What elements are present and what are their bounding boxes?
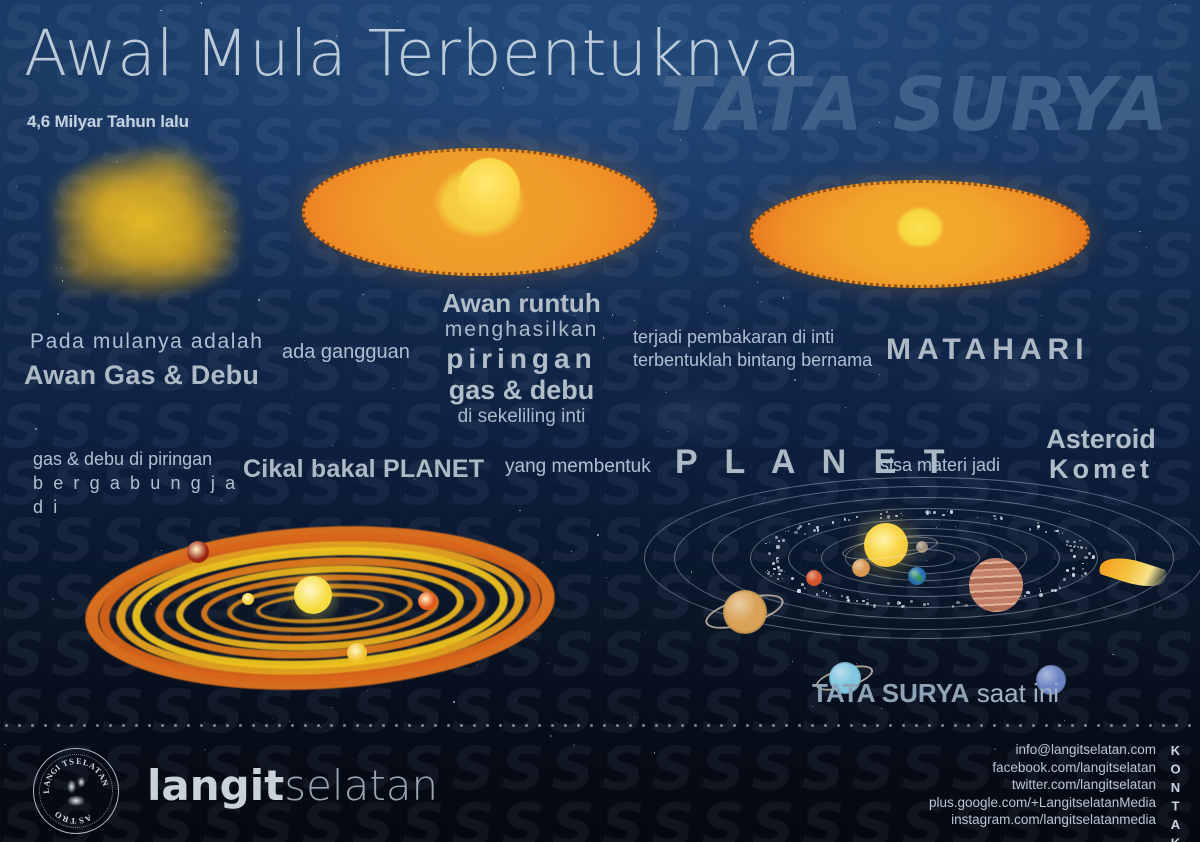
nebula-glow	[620, 380, 770, 450]
asteroid	[797, 527, 800, 530]
watermark-s: S	[648, 228, 698, 285]
star	[803, 2, 804, 3]
star	[634, 320, 635, 321]
asteroid	[1039, 588, 1040, 589]
watermark-s: S	[198, 684, 248, 741]
seal-char: S	[68, 757, 75, 767]
watermark-s: S	[548, 741, 598, 798]
asteroid	[880, 513, 882, 515]
watermark-s: S	[798, 741, 848, 798]
watermark-s: S	[598, 627, 648, 684]
watermark-s: S	[248, 399, 298, 456]
watermark-s: S	[1098, 285, 1148, 342]
asteroid	[784, 571, 785, 572]
watermark-s: S	[598, 684, 648, 741]
watermark-s: S	[298, 285, 348, 342]
asteroid	[1073, 546, 1075, 548]
asteroid	[816, 526, 818, 528]
star	[612, 314, 614, 316]
asteroid	[813, 529, 816, 532]
ignition-line-1: terjadi pembakaran di inti	[633, 326, 883, 349]
star	[757, 282, 758, 283]
asteroid	[1082, 563, 1084, 565]
asteroid	[1040, 590, 1041, 591]
watermark-s: S	[548, 627, 598, 684]
protostar-core	[458, 158, 520, 220]
star	[645, 631, 647, 633]
watermark-s: S	[898, 0, 948, 57]
star	[291, 397, 292, 398]
asteroid	[873, 604, 876, 607]
star	[1139, 231, 1141, 233]
watermark-s: S	[448, 798, 498, 842]
watermark-s: S	[1098, 0, 1148, 57]
star	[732, 292, 733, 293]
asteroid	[832, 521, 835, 524]
merge-line-1: gas & debu di piringan	[33, 447, 243, 471]
asteroid	[1026, 591, 1029, 594]
star	[16, 186, 17, 187]
current-system-bold: TATA SURYA	[812, 678, 969, 708]
watermark-s: S	[498, 684, 548, 741]
asteroid	[766, 543, 767, 544]
watermark-s: S	[598, 570, 648, 627]
asteroid	[1066, 540, 1069, 543]
asteroid	[1054, 530, 1056, 532]
seal-char: R	[61, 813, 70, 823]
star	[331, 268, 332, 269]
watermark-s: S	[0, 570, 48, 627]
asteroid	[950, 510, 954, 514]
watermark-s: S	[48, 684, 98, 741]
brand-bold: langit	[147, 761, 284, 810]
asteroid	[933, 511, 936, 514]
star	[273, 718, 274, 719]
asteroid	[901, 605, 904, 608]
kontak-label: KONTAK	[1168, 743, 1183, 842]
watermark-s: S	[1148, 342, 1198, 399]
asteroid	[1062, 532, 1063, 533]
asteroid	[1000, 517, 1003, 520]
asteroid	[848, 519, 850, 521]
asteroid	[817, 529, 820, 532]
contact-list: info@langitselatan.comfacebook.com/langi…	[929, 741, 1156, 829]
watermark-s: S	[398, 684, 448, 741]
asteroid	[867, 599, 868, 600]
asteroid	[773, 568, 776, 571]
asteroid	[1063, 578, 1065, 580]
star	[879, 374, 880, 375]
star	[98, 109, 99, 110]
watermark-s: S	[548, 684, 598, 741]
star	[35, 428, 36, 429]
star	[760, 301, 762, 303]
star	[317, 180, 319, 182]
asteroid	[776, 545, 779, 548]
current-system-light: saat ini	[977, 678, 1059, 708]
star	[707, 312, 708, 313]
watermark-s: S	[1148, 0, 1198, 57]
label-cloud-intro: Pada mulanya adalah	[30, 330, 264, 354]
star	[656, 251, 657, 252]
asteroid	[926, 510, 929, 513]
brand-wordmark: langitselatan	[147, 762, 438, 810]
asteroid	[819, 595, 820, 596]
asteroid	[1014, 517, 1016, 519]
star	[597, 534, 599, 536]
watermark-s: S	[548, 570, 598, 627]
asteroid	[778, 569, 782, 573]
watermark-s: S	[498, 741, 548, 798]
label-collapse-block: Awan runtuh menghasilkan piringan gas & …	[434, 289, 609, 429]
asteroid	[880, 517, 881, 518]
asteroid	[773, 573, 775, 575]
watermark-s: S	[798, 798, 848, 842]
watermark-s: S	[948, 399, 998, 456]
watermark-s: S	[498, 798, 548, 842]
star	[794, 379, 796, 381]
watermark-s: S	[698, 171, 748, 228]
contact-item-5[interactable]: instagram.com/langitselatanmedia	[929, 811, 1156, 829]
asteroid	[777, 578, 779, 580]
star	[515, 700, 516, 701]
asteroid	[856, 600, 858, 602]
star	[665, 392, 667, 394]
collapse-line-2: menghasilkan	[434, 317, 609, 343]
watermark-s: S	[598, 114, 648, 171]
asteroid	[1059, 533, 1060, 534]
star	[571, 551, 572, 552]
asteroid	[1066, 569, 1069, 572]
asteroid	[1024, 595, 1026, 597]
star	[724, 305, 726, 307]
star	[331, 707, 332, 708]
star	[634, 717, 635, 718]
asteroid	[775, 536, 778, 539]
watermark-s: S	[98, 684, 148, 741]
watermark-s: S	[248, 684, 298, 741]
star	[201, 2, 203, 4]
watermark-s: S	[548, 798, 598, 842]
asteroid	[1056, 530, 1058, 532]
watermark-s: S	[1098, 342, 1148, 399]
asteroid	[804, 533, 806, 535]
label-protoplanet: Cikal bakal PLANET	[243, 455, 484, 484]
asteroid	[829, 595, 831, 597]
star	[555, 119, 556, 120]
planet-venus	[852, 559, 870, 577]
asteroid	[776, 560, 779, 563]
star	[289, 413, 290, 414]
asteroid	[923, 603, 926, 606]
asteroid	[782, 539, 785, 542]
protoplanet-inner	[242, 593, 254, 605]
watermark-s: S	[698, 228, 748, 285]
asteroid	[785, 531, 786, 532]
watermark-s: S	[298, 399, 348, 456]
contact-item-2[interactable]: facebook.com/langitselatan	[929, 759, 1156, 777]
asteroid	[1069, 545, 1072, 548]
asteroid	[1059, 587, 1061, 589]
asteroid	[1073, 555, 1076, 558]
asteroid	[1039, 593, 1043, 597]
asteroid	[791, 577, 794, 580]
asteroid	[1037, 528, 1039, 530]
asteroid	[1092, 555, 1095, 558]
asteroid	[1084, 556, 1087, 559]
planet-jupiter	[969, 558, 1023, 612]
asteroid	[1073, 541, 1076, 544]
asteroid	[801, 583, 804, 586]
asteroid	[1081, 575, 1084, 578]
star	[332, 445, 333, 446]
asteroid	[788, 530, 790, 532]
contact-item-4[interactable]: plus.google.com/+LangitselatanMedia	[929, 794, 1156, 812]
brand-light: selatan	[284, 761, 438, 810]
star	[747, 193, 748, 194]
star	[352, 94, 353, 95]
watermark-s: S	[298, 114, 348, 171]
star	[367, 690, 368, 691]
asteroid	[1072, 573, 1075, 576]
asteroid	[1079, 540, 1081, 542]
watermark-s: S	[598, 513, 648, 570]
star	[963, 313, 964, 314]
asteroid	[844, 518, 846, 520]
watermark-s: S	[1148, 171, 1198, 228]
watermark-s: S	[348, 285, 398, 342]
big-title-tata-surya: TATA SURYA	[660, 68, 1170, 142]
asteroid	[1037, 522, 1039, 524]
star	[845, 407, 846, 408]
watermark-s: S	[1148, 228, 1198, 285]
asteroid	[902, 515, 903, 516]
watermark-s: S	[1098, 228, 1148, 285]
watermark-s: S	[448, 684, 498, 741]
asteroid	[1059, 586, 1060, 587]
protostar	[294, 576, 332, 614]
asteroid	[782, 578, 783, 579]
star	[393, 388, 394, 389]
watermark-s: S	[698, 741, 748, 798]
protoplanet-yellow	[347, 643, 367, 663]
star	[1064, 720, 1065, 721]
asteroid	[895, 515, 898, 518]
star	[573, 744, 575, 746]
asteroid	[805, 588, 806, 589]
watermark-s: S	[948, 0, 998, 57]
watermark-s: S	[648, 741, 698, 798]
watermark-s: S	[698, 798, 748, 842]
asteroid	[778, 573, 780, 575]
watermark-s: S	[798, 0, 848, 57]
star	[606, 577, 607, 578]
asteroid	[910, 600, 913, 603]
seal-centaur-icon	[54, 769, 98, 813]
watermark-s: S	[448, 741, 498, 798]
star	[1066, 262, 1067, 263]
star	[654, 752, 655, 753]
asteroid	[778, 540, 780, 542]
star	[519, 510, 521, 512]
star	[1140, 1, 1141, 2]
star	[52, 598, 54, 600]
asteroid	[826, 592, 827, 593]
star	[550, 735, 552, 737]
label-disturbance: ada gangguan	[282, 341, 410, 364]
footer-divider	[0, 724, 1200, 727]
asteroid	[1070, 549, 1072, 551]
star	[160, 10, 162, 12]
asteroid	[956, 601, 959, 604]
asteroid	[947, 511, 948, 512]
star	[204, 749, 205, 750]
gas-dust-cloud-texture	[18, 125, 273, 335]
protoplanet-red	[187, 541, 209, 563]
watermark-s: S	[0, 684, 48, 741]
asteroid	[770, 575, 772, 577]
watermark-s: S	[598, 798, 648, 842]
asteroid	[862, 600, 865, 603]
planet-saturn	[723, 590, 767, 634]
ignition-line-2: terbentuklah bintang bernama	[633, 349, 883, 372]
asteroid	[1029, 528, 1031, 530]
star	[289, 721, 290, 722]
seal-char: L	[42, 787, 51, 794]
asteroid	[929, 511, 932, 514]
star	[1110, 307, 1112, 309]
star	[668, 431, 669, 432]
collapse-line-1: Awan runtuh	[434, 289, 609, 317]
star	[0, 370, 1, 371]
asteroid	[942, 514, 944, 516]
asteroid	[808, 523, 810, 525]
debris-line-1: Asteroid	[1026, 425, 1176, 454]
asteroid	[1077, 546, 1079, 548]
collapse-line-4: gas & debu	[434, 375, 609, 405]
contact-item-1[interactable]: info@langitselatan.com	[929, 741, 1156, 759]
debris-line-2: Komet	[1026, 454, 1176, 485]
asteroid	[769, 542, 770, 543]
asteroid	[1066, 544, 1068, 546]
watermark-s: S	[1148, 285, 1198, 342]
asteroid	[1054, 589, 1057, 592]
contact-item-3[interactable]: twitter.com/langitselatan	[929, 776, 1156, 794]
star	[240, 401, 241, 402]
asteroid	[1045, 531, 1047, 533]
asteroid	[977, 517, 978, 518]
asteroid	[886, 511, 888, 513]
watermark-s: S	[548, 513, 598, 570]
watermark-s: S	[348, 399, 398, 456]
label-merge: gas & debu di piringan b e r g a b u n g…	[33, 447, 243, 519]
asteroid	[1084, 572, 1087, 575]
label-current-system: TATA SURYA saat ini	[812, 678, 1059, 709]
star	[453, 701, 455, 703]
label-cloud-name: Awan Gas & Debu	[24, 360, 259, 391]
collapse-line-3: piringan	[434, 343, 609, 375]
asteroid	[841, 595, 843, 597]
seal-char: T	[70, 816, 76, 825]
watermark-s: S	[998, 0, 1048, 57]
watermark-s: S	[148, 684, 198, 741]
planet-earth	[908, 567, 926, 585]
planet-mars	[806, 570, 822, 586]
asteroid	[772, 562, 775, 565]
star	[282, 187, 283, 188]
asteroid	[765, 572, 766, 573]
watermark-s: S	[848, 741, 898, 798]
asteroid	[994, 518, 996, 520]
watermark-s: S	[0, 627, 48, 684]
star	[362, 294, 364, 296]
asteroid	[822, 525, 823, 526]
protoplanetary-ring-system	[85, 525, 555, 690]
asteroid	[856, 516, 858, 518]
watermark-s: S	[298, 684, 348, 741]
watermark-s: S	[648, 798, 698, 842]
asteroid	[1021, 596, 1022, 597]
label-star-name: MATAHARI	[886, 333, 1090, 367]
logo-seal: LANGITSELATANASTRO	[33, 748, 119, 834]
watermark-s: S	[1098, 171, 1148, 228]
star	[845, 11, 846, 12]
watermark-s: S	[0, 513, 48, 570]
asteroid	[768, 552, 772, 556]
asteroid	[765, 543, 766, 544]
asteroid	[847, 599, 850, 602]
label-leftover: sisa materi jadi	[880, 455, 1000, 476]
infographic-poster: SSSSSSSSSSSSSSSSSSSSSSSSSSSSSSSSSSSSSSSS…	[0, 0, 1200, 842]
star	[674, 225, 676, 227]
star	[4, 744, 5, 745]
watermark-s: S	[598, 741, 648, 798]
star	[1041, 315, 1042, 316]
seal-char: N	[99, 778, 110, 787]
star-forming-disk-illustration	[750, 180, 1090, 288]
asteroid	[816, 593, 819, 596]
asteroid-belt	[765, 512, 1083, 604]
watermark-s: S	[1048, 0, 1098, 57]
label-ignition: terjadi pembakaran di intiterbentuklah b…	[633, 326, 883, 372]
asteroid	[822, 590, 824, 592]
merge-line-2: b e r g a b u n g j a d i	[33, 471, 243, 519]
collapse-line-5: di sekeliling inti	[434, 405, 609, 429]
asteroid	[1072, 567, 1075, 570]
watermark-s: S	[348, 684, 398, 741]
star	[1028, 384, 1030, 386]
star	[1146, 247, 1147, 248]
star	[272, 430, 273, 431]
watermark-s: S	[748, 741, 798, 798]
watermark-s: S	[848, 0, 898, 57]
label-forming: yang membentuk	[505, 456, 651, 478]
asteroid	[887, 515, 891, 519]
watermark-s: S	[748, 798, 798, 842]
watermark-s: S	[848, 798, 898, 842]
asteroid	[794, 531, 797, 534]
label-debris-block: Asteroid Komet	[1026, 425, 1176, 485]
star	[326, 730, 327, 731]
star	[950, 19, 951, 20]
star	[1175, 4, 1176, 5]
protoplanet-orange	[418, 592, 436, 610]
star	[783, 297, 785, 299]
asteroid	[797, 589, 800, 592]
